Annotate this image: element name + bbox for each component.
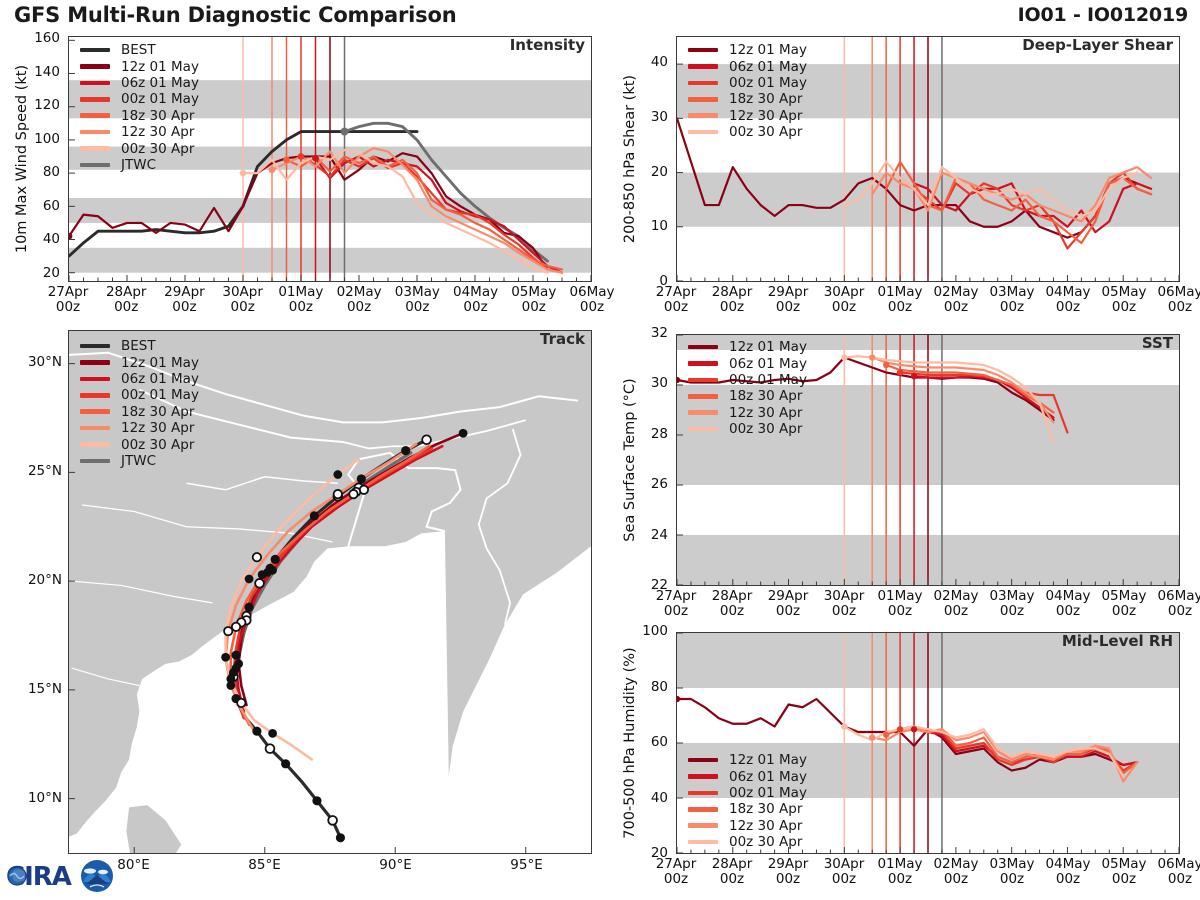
legend-swatch — [80, 409, 110, 414]
legend-swatch — [688, 807, 718, 812]
legend-swatch — [688, 410, 718, 415]
legend-label: 12z 01 May — [729, 42, 807, 58]
legend-label: 12z 30 Apr — [121, 124, 194, 140]
legend-swatch — [80, 360, 110, 365]
legend-swatch — [688, 48, 718, 53]
y-tick-label: 160 — [12, 30, 60, 46]
legend-label: 06z 01 May — [121, 75, 199, 91]
x-tick-label: 06May00z — [558, 285, 626, 315]
storm-id-label: IO01 - IO012019 — [1018, 4, 1188, 26]
track-y-tick-label: 25°N — [6, 463, 62, 479]
legend-label: BEST — [121, 42, 156, 58]
legend-swatch — [80, 459, 110, 464]
legend-label: 18z 30 Apr — [729, 91, 802, 107]
legend-label: 06z 01 May — [729, 59, 807, 75]
legend-item-18z-30-apr: 18z 30 Apr — [688, 91, 807, 107]
y-tick-label: 80 — [12, 164, 60, 180]
y-tick-label: 60 — [620, 734, 668, 750]
legend-label: 00z 01 May — [729, 372, 807, 388]
legend-item-18z-30-apr: 18z 30 Apr — [688, 801, 807, 817]
legend-item-06z-01-may: 06z 01 May — [688, 58, 807, 74]
legend-swatch — [688, 758, 718, 763]
legend-label: 12z 30 Apr — [729, 108, 802, 124]
legend-label: 12z 01 May — [121, 355, 199, 371]
y-tick-label: 32 — [620, 325, 668, 341]
legend-label: JTWC — [121, 453, 156, 469]
legend-item-00z-01-may: 00z 01 May — [688, 75, 807, 91]
legend-label: 12z 30 Apr — [121, 420, 194, 436]
legend-swatch — [688, 427, 718, 432]
y-tick-label: 80 — [620, 679, 668, 695]
legend-item-12z-01-may: 12z 01 May — [688, 42, 807, 58]
legend-label: 12z 30 Apr — [729, 818, 802, 834]
legend-label: 12z 01 May — [121, 59, 199, 75]
legend-swatch — [688, 774, 718, 779]
y-tick-label: 20 — [620, 164, 668, 180]
x-tick-label: 06May00z — [1146, 285, 1200, 315]
y-tick-label: 26 — [620, 476, 668, 492]
legend-item-best: BEST — [80, 338, 199, 354]
legend-swatch — [688, 791, 718, 796]
legend-swatch — [688, 378, 718, 383]
legend-label: BEST — [121, 338, 156, 354]
legend-label: 18z 30 Apr — [729, 801, 802, 817]
legend-swatch — [80, 97, 110, 102]
legend-swatch — [80, 130, 110, 135]
legend-item-00z-01-may: 00z 01 May — [688, 372, 807, 388]
y-tick-label: 100 — [620, 623, 668, 639]
rh-panel-title: Mid-Level RH — [676, 632, 1180, 650]
legend-item-06z-01-may: 06z 01 May — [80, 75, 199, 91]
legend-label: 00z 01 May — [729, 75, 807, 91]
legend-label: 18z 30 Apr — [729, 388, 802, 404]
legend-swatch — [80, 64, 110, 69]
legend-label: 00z 01 May — [121, 387, 199, 403]
legend-label: 00z 30 Apr — [121, 437, 194, 453]
shear-legend: 12z 01 May06z 01 May00z 01 May18z 30 Apr… — [688, 42, 807, 140]
legend-swatch — [688, 361, 718, 366]
legend-item-12z-01-may: 12z 01 May — [80, 58, 199, 74]
figure-root: GFS Multi-Run Diagnostic Comparison IO01… — [0, 0, 1200, 900]
legend-item-00z-30-apr: 00z 30 Apr — [80, 140, 199, 156]
legend-item-12z-30-apr: 12z 30 Apr — [688, 818, 807, 834]
legend-item-00z-30-apr: 00z 30 Apr — [688, 834, 807, 850]
legend-item-00z-30-apr: 00z 30 Apr — [688, 421, 807, 437]
y-tick-label: 30 — [620, 109, 668, 125]
legend-label: 00z 30 Apr — [729, 834, 802, 850]
legend-label: 12z 01 May — [729, 339, 807, 355]
legend-swatch — [688, 823, 718, 828]
legend-item-06z-01-may: 06z 01 May — [688, 768, 807, 784]
intensity-legend: BEST12z 01 May06z 01 May00z 01 May18z 30… — [80, 42, 199, 173]
legend-swatch — [80, 344, 110, 349]
legend-label: 00z 01 May — [729, 785, 807, 801]
legend-item-00z-01-may: 00z 01 May — [80, 387, 199, 403]
legend-swatch — [688, 64, 718, 69]
track-x-tick-label: 85°E — [231, 858, 299, 873]
shear-y-axis-label: 200-850 hPa Shear (kt) — [622, 36, 638, 282]
y-tick-label: 40 — [620, 54, 668, 70]
legend-item-06z-01-may: 06z 01 May — [80, 371, 199, 387]
y-tick-label: 28 — [620, 426, 668, 442]
legend-swatch — [688, 97, 718, 102]
track-y-tick-label: 10°N — [6, 790, 62, 806]
legend-item-12z-30-apr: 12z 30 Apr — [688, 108, 807, 124]
legend-item-12z-01-may: 12z 01 May — [688, 752, 807, 768]
legend-label: JTWC — [121, 157, 156, 173]
legend-item-12z-01-may: 12z 01 May — [688, 339, 807, 355]
y-tick-label: 140 — [12, 64, 60, 80]
sst-y-axis-label: Sea Surface Temp (°C) — [622, 334, 638, 586]
legend-item-12z-30-apr: 12z 30 Apr — [688, 405, 807, 421]
legend-label: 12z 01 May — [729, 752, 807, 768]
legend-swatch — [80, 426, 110, 431]
legend-item-18z-30-apr: 18z 30 Apr — [688, 388, 807, 404]
legend-label: 00z 30 Apr — [729, 421, 802, 437]
x-tick-label: 06May00z — [1146, 857, 1200, 887]
legend-item-best: BEST — [80, 42, 199, 58]
y-tick-label: 60 — [12, 198, 60, 214]
legend-item-jtwc: JTWC — [80, 157, 199, 173]
page-title: GFS Multi-Run Diagnostic Comparison — [14, 3, 456, 27]
legend-swatch — [80, 146, 110, 151]
y-tick-label: 120 — [12, 97, 60, 113]
legend-label: 00z 01 May — [121, 91, 199, 107]
legend-swatch — [688, 130, 718, 135]
track-y-tick-label: 15°N — [6, 681, 62, 697]
legend-swatch — [80, 48, 110, 53]
legend-item-00z-01-may: 00z 01 May — [688, 785, 807, 801]
sst-legend: 12z 01 May06z 01 May00z 01 May18z 30 Apr… — [688, 339, 807, 437]
legend-swatch — [688, 81, 718, 86]
cira-logo: CIRA — [4, 856, 116, 896]
y-tick-label: 10 — [620, 218, 668, 234]
legend-item-18z-30-apr: 18z 30 Apr — [80, 108, 199, 124]
legend-item-00z-30-apr: 00z 30 Apr — [688, 124, 807, 140]
track-x-tick-label: 90°E — [362, 858, 430, 873]
legend-swatch — [80, 442, 110, 447]
legend-item-00z-01-may: 00z 01 May — [80, 91, 199, 107]
legend-swatch — [80, 113, 110, 118]
legend-swatch — [80, 393, 110, 398]
y-tick-label: 30 — [620, 375, 668, 391]
legend-label: 06z 01 May — [121, 371, 199, 387]
track-y-tick-label: 30°N — [6, 354, 62, 370]
legend-swatch — [688, 345, 718, 350]
legend-label: 18z 30 Apr — [121, 108, 194, 124]
legend-label: 12z 30 Apr — [729, 405, 802, 421]
rh-legend: 12z 01 May06z 01 May00z 01 May18z 30 Apr… — [688, 752, 807, 850]
legend-label: 00z 30 Apr — [729, 124, 802, 140]
legend-swatch — [688, 394, 718, 399]
legend-label: 06z 01 May — [729, 356, 807, 372]
legend-item-06z-01-may: 06z 01 May — [688, 355, 807, 371]
y-tick-label: 40 — [12, 231, 60, 247]
y-tick-label: 20 — [12, 265, 60, 281]
legend-item-18z-30-apr: 18z 30 Apr — [80, 404, 199, 420]
legend-item-jtwc: JTWC — [80, 453, 199, 469]
track-y-tick-label: 20°N — [6, 572, 62, 588]
track-legend: BEST12z 01 May06z 01 May00z 01 May18z 30… — [80, 338, 199, 469]
legend-swatch — [688, 840, 718, 845]
x-tick-label: 06May00z — [1146, 589, 1200, 619]
y-tick-label: 24 — [620, 527, 668, 543]
legend-item-12z-30-apr: 12z 30 Apr — [80, 420, 199, 436]
legend-item-12z-01-may: 12z 01 May — [80, 354, 199, 370]
y-tick-label: 100 — [12, 131, 60, 147]
legend-swatch — [80, 377, 110, 382]
legend-swatch — [80, 163, 110, 168]
legend-item-12z-30-apr: 12z 30 Apr — [80, 124, 199, 140]
legend-item-00z-30-apr: 00z 30 Apr — [80, 436, 199, 452]
legend-label: 06z 01 May — [729, 769, 807, 785]
y-tick-label: 40 — [620, 790, 668, 806]
legend-label: 18z 30 Apr — [121, 404, 194, 420]
track-x-tick-label: 95°E — [493, 858, 561, 873]
legend-swatch — [688, 113, 718, 118]
legend-swatch — [80, 81, 110, 86]
legend-label: 00z 30 Apr — [121, 141, 194, 157]
